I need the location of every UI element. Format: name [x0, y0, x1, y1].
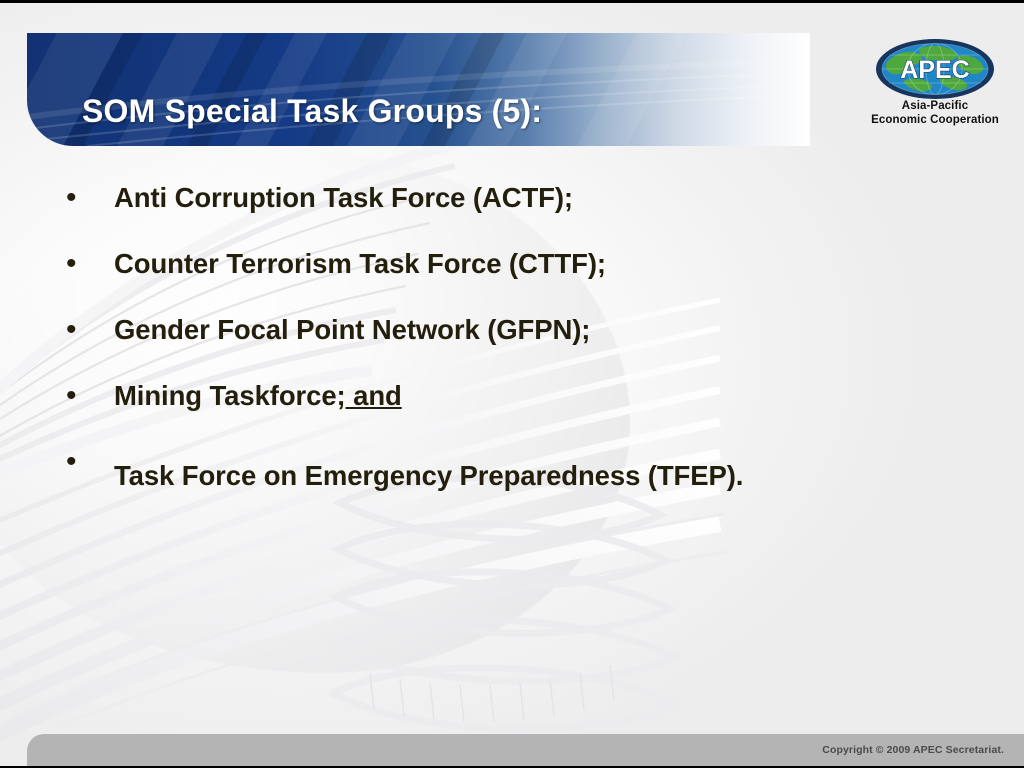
list-item: • Counter Terrorism Task Force (CTTF);	[58, 241, 953, 287]
bullet-marker-icon: •	[58, 241, 114, 287]
bullet-marker-icon: •	[58, 175, 114, 221]
footer-bar: Copyright © 2009 APEC Secretariat.	[27, 734, 1024, 768]
bullet-list: • Anti Corruption Task Force (ACTF); • C…	[58, 175, 953, 533]
list-item: • Mining Taskforce; and	[58, 373, 953, 419]
apec-logo: APEC Asia-Pacific Economic Cooperation	[855, 38, 1015, 143]
list-item-label: Counter Terrorism Task Force (CTTF);	[114, 241, 953, 287]
list-item: • Task Force on Emergency Preparedness (…	[58, 439, 953, 513]
bullet-marker-icon: •	[58, 373, 114, 419]
copyright-text: Copyright © 2009 APEC Secretariat.	[822, 744, 1004, 756]
apec-wordmark: APEC	[900, 56, 969, 84]
list-item-label: Task Force on Emergency Preparedness (TF…	[114, 439, 930, 513]
list-item-label-main: Mining Taskforce;	[114, 380, 346, 411]
slide-canvas: SOM Special Task Groups (5): APEC	[0, 0, 1024, 768]
apec-globe-icon: APEC	[875, 38, 995, 100]
list-item: • Anti Corruption Task Force (ACTF);	[58, 175, 953, 221]
list-item-label: Mining Taskforce; and	[114, 373, 953, 419]
page-title: SOM Special Task Groups (5):	[82, 93, 542, 130]
bullet-marker-icon: •	[58, 307, 114, 353]
list-item-label: Anti Corruption Task Force (ACTF);	[114, 175, 953, 221]
list-item-label: Gender Focal Point Network (GFPN);	[114, 307, 953, 353]
apec-caption-line-2: Economic Cooperation	[855, 114, 1015, 128]
apec-caption-line-1: Asia-Pacific	[855, 100, 1015, 114]
bullet-marker-icon: •	[58, 439, 114, 485]
list-item: • Gender Focal Point Network (GFPN);	[58, 307, 953, 353]
title-banner: SOM Special Task Groups (5):	[27, 33, 810, 146]
list-item-label-underlined: and	[346, 380, 402, 411]
